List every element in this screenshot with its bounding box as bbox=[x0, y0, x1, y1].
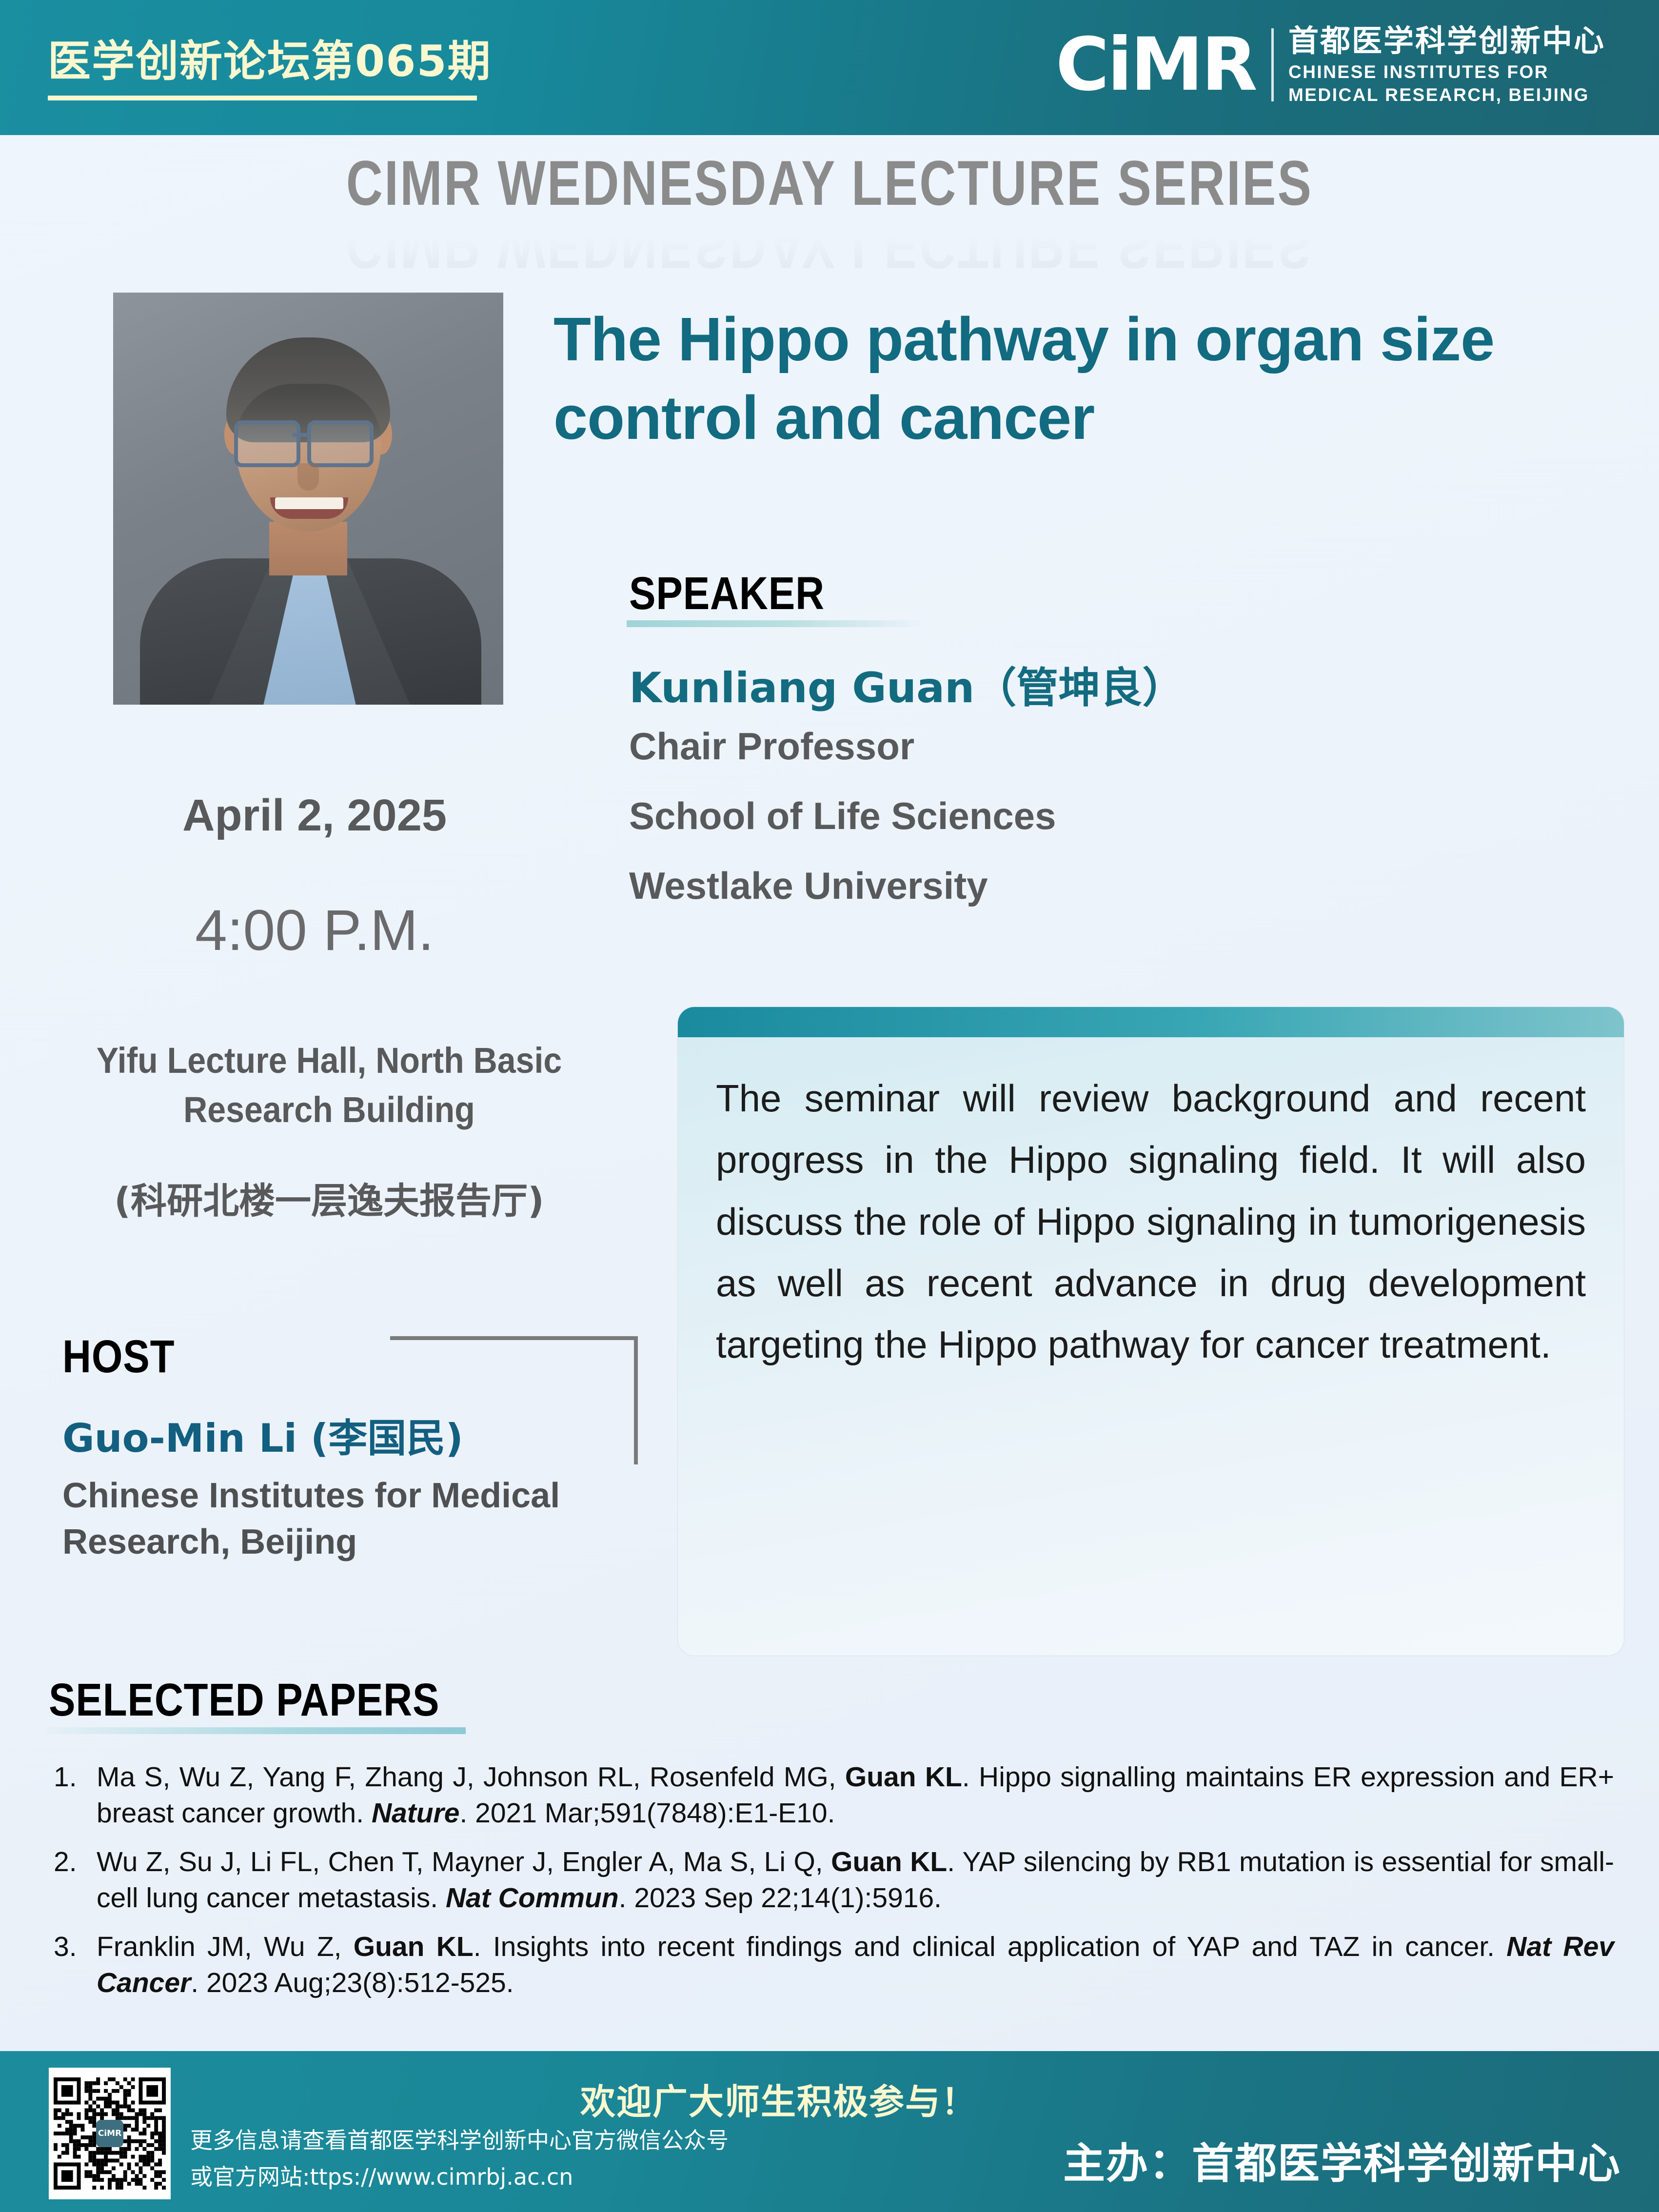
paper-number: 1. bbox=[54, 1759, 93, 1795]
event-venue-chinese: (科研北楼一层逸夫报告厅) bbox=[29, 1178, 629, 1224]
footer-organizer: 主办：首都医学科学创新中心 bbox=[1063, 2129, 1621, 2190]
logo-text-block: 首都医学科学创新中心 CHINESE INSTITUTES FOR MEDICA… bbox=[1288, 23, 1605, 106]
qr-center-logo: CiMR bbox=[96, 2120, 123, 2147]
host-name: Guo-Min Li (李国民) bbox=[62, 1407, 463, 1463]
qr-code-pattern: CiMR bbox=[54, 2073, 166, 2194]
selected-papers-label: SELECTED PAPERS bbox=[49, 1674, 439, 1727]
abstract-panel-header-bar bbox=[678, 1007, 1624, 1037]
host-section-label: HOST bbox=[62, 1330, 175, 1383]
portrait-glasses-right bbox=[307, 420, 374, 467]
event-date: April 2, 2025 bbox=[0, 790, 629, 841]
speaker-department: School of Life Sciences bbox=[629, 794, 1056, 838]
speaker-institution: Westlake University bbox=[629, 864, 988, 908]
logo-english-line1: CHINESE INSTITUTES FOR bbox=[1288, 61, 1605, 83]
footer-bar: CiMR 更多信息请查看首都医学科学创新中心官方微信公众号 或官方网站:ttps… bbox=[0, 2051, 1659, 2212]
speaker-portrait-photo bbox=[113, 293, 503, 705]
logo-chinese-name: 首都医学科学创新中心 bbox=[1288, 23, 1605, 58]
series-title-reflection: CIMR WEDNESDAY LECTURE SERIES bbox=[166, 210, 1493, 283]
cimr-logo-mark: CiMR bbox=[1056, 28, 1264, 101]
speaker-section-label: SPEAKER bbox=[629, 567, 825, 620]
host-affiliation: Chinese Institutes for Medical Research,… bbox=[62, 1473, 638, 1565]
series-title: CIMR WEDNESDAY LECTURE SERIES bbox=[166, 146, 1493, 219]
paper-journal-name: Nature bbox=[372, 1797, 460, 1829]
issue-badge-underline bbox=[48, 96, 477, 100]
portrait-mouth bbox=[270, 497, 348, 519]
issue-badge: 医学创新论坛第065期 bbox=[48, 40, 492, 83]
portrait-nose bbox=[297, 463, 319, 491]
event-venue-english: Yifu Lecture Hall, North Basic Research … bbox=[53, 1036, 605, 1134]
paper-number: 2. bbox=[54, 1844, 93, 1880]
paper-citation-item: 3.Franklin JM, Wu Z, Guan KL. Insights i… bbox=[54, 1929, 1614, 2001]
speaker-underline-rule bbox=[627, 620, 919, 627]
portrait-teeth bbox=[275, 497, 343, 509]
portrait-glasses-left bbox=[234, 420, 300, 467]
selected-papers-list: 1.Ma S, Wu Z, Yang F, Zhang J, Johnson R… bbox=[54, 1759, 1614, 2014]
speaker-title: Chair Professor bbox=[629, 724, 914, 769]
paper-highlighted-author: Guan KL bbox=[831, 1846, 947, 1877]
portrait-glasses-bridge bbox=[293, 433, 307, 437]
wechat-qr-code[interactable]: CiMR bbox=[49, 2068, 171, 2199]
paper-journal-name: Nat Commun bbox=[446, 1882, 619, 1914]
event-time: 4:00 P.M. bbox=[0, 897, 629, 964]
header-bar: 医学创新论坛第065期 CiMR 首都医学科学创新中心 CHINESE INST… bbox=[0, 0, 1659, 135]
cimr-logo: CiMR 首都医学科学创新中心 CHINESE INSTITUTES FOR M… bbox=[1056, 19, 1605, 111]
paper-highlighted-author: Guan KL bbox=[354, 1931, 474, 1962]
selected-papers-underline-rule bbox=[46, 1727, 466, 1734]
speaker-name: Kunliang Guan（管坤良） bbox=[629, 653, 1184, 714]
poster-root: 医学创新论坛第065期 CiMR 首都医学科学创新中心 CHINESE INST… bbox=[0, 0, 1659, 2212]
footer-wechat-note: 更多信息请查看首都医学科学创新中心官方微信公众号 bbox=[190, 2123, 729, 2158]
paper-citation-item: 2.Wu Z, Su J, Li FL, Chen T, Mayner J, E… bbox=[54, 1844, 1614, 1916]
paper-highlighted-author: Guan KL bbox=[845, 1761, 962, 1793]
paper-citation-item: 1.Ma S, Wu Z, Yang F, Zhang J, Johnson R… bbox=[54, 1759, 1614, 1831]
footer-welcome-message: 欢迎广大师生积极参与！ bbox=[580, 2073, 977, 2124]
footer-website-url[interactable]: 或官方网站:ttps://www.cimrbj.ac.cn bbox=[190, 2159, 573, 2192]
paper-journal-name: Nat Rev Cancer bbox=[97, 1931, 1614, 1998]
lecture-title: The Hippo pathway in organ size control … bbox=[553, 300, 1592, 457]
abstract-text: The seminar will review background and r… bbox=[678, 1037, 1624, 1376]
paper-number: 3. bbox=[54, 1929, 93, 1965]
abstract-panel: The seminar will review background and r… bbox=[678, 1007, 1624, 1656]
logo-divider bbox=[1271, 28, 1274, 101]
logo-english-line2: MEDICAL RESEARCH, BEIJING bbox=[1288, 84, 1605, 106]
